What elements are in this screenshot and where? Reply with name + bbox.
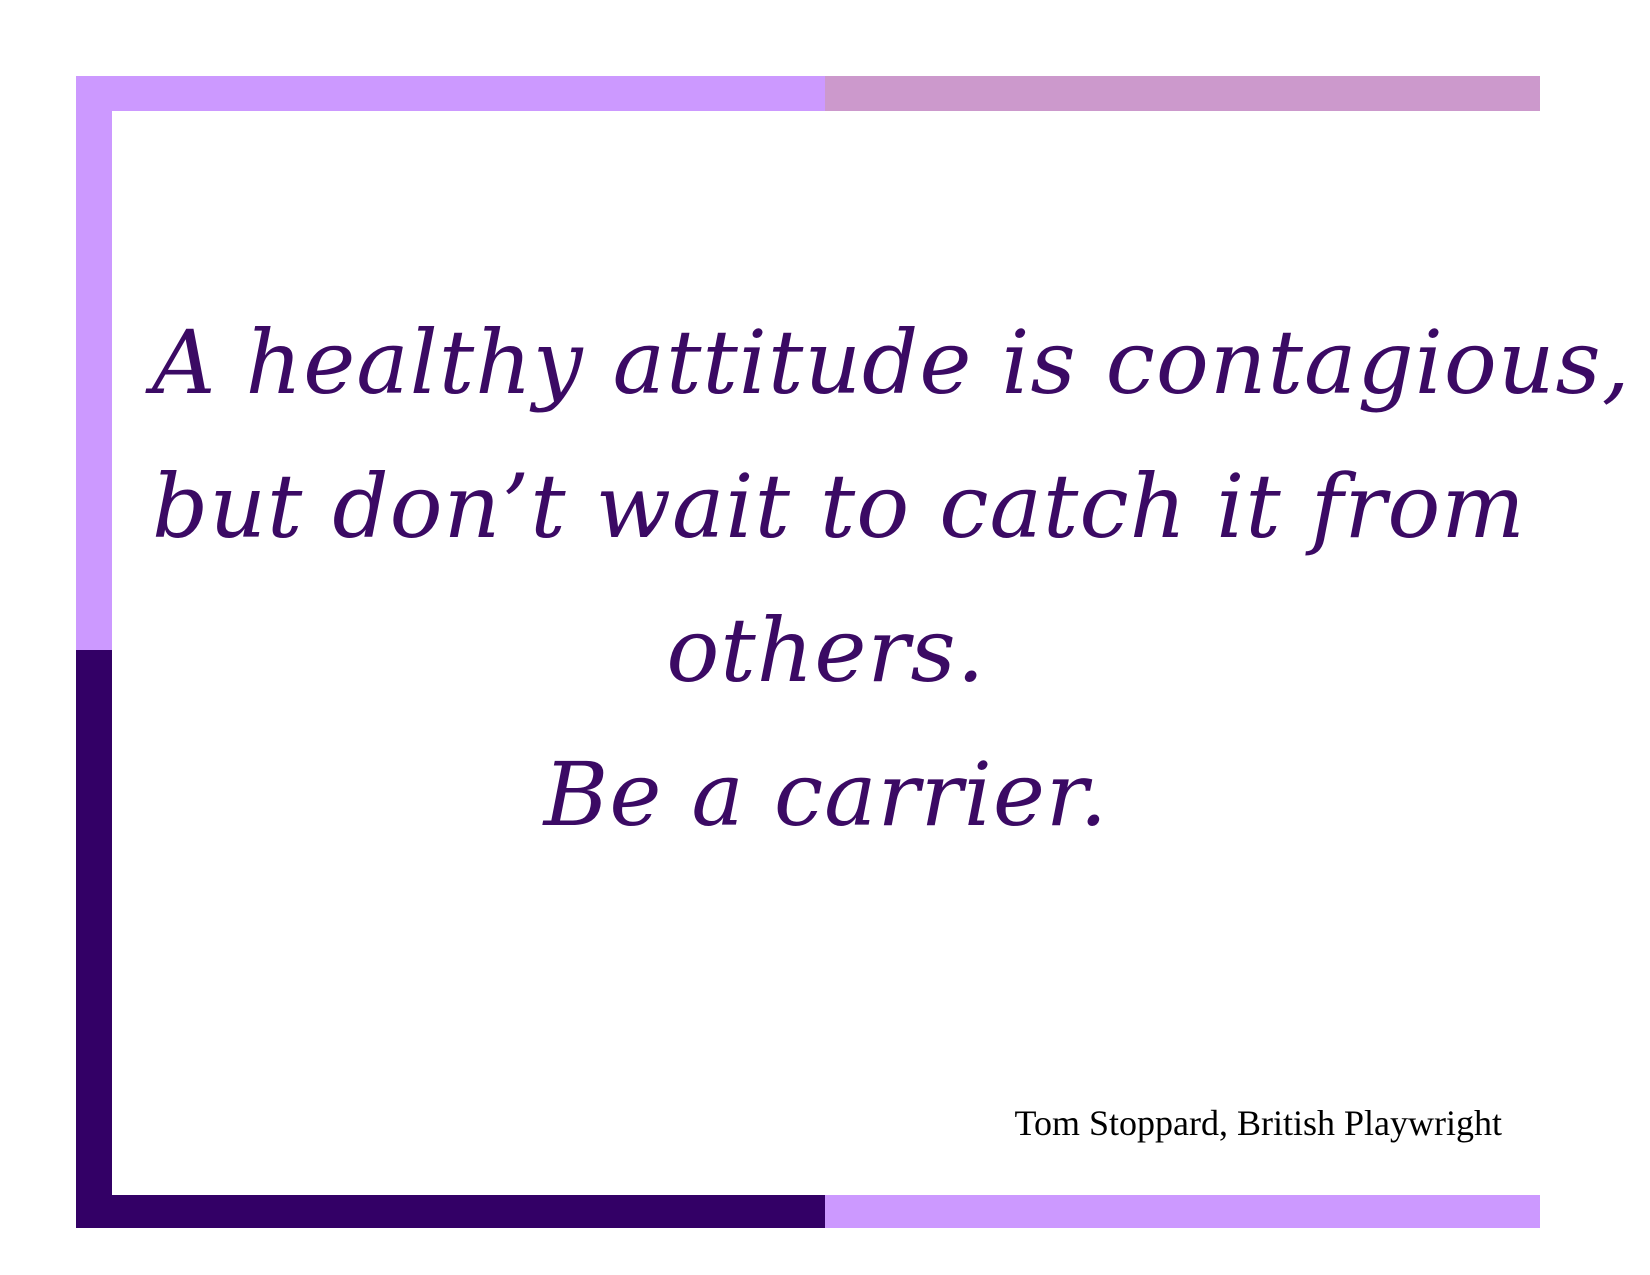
content-panel: A healthy attitude is contagious, but do… <box>112 111 1540 1195</box>
quote-block: A healthy attitude is contagious, but do… <box>152 291 1500 867</box>
quote-line-4: Be a carrier. <box>152 723 1500 867</box>
quote-attribution: Tom Stoppard, British Playwright <box>1015 1101 1502 1145</box>
quote-line-2: but don’t wait to catch it from <box>152 435 1500 579</box>
frame-band-top-right <box>825 76 1540 111</box>
frame-band-bottom-left <box>76 1195 825 1228</box>
quote-slide: A healthy attitude is contagious, but do… <box>0 0 1650 1275</box>
frame-band-left-upper <box>76 76 112 650</box>
quote-line-3: others. <box>152 579 1500 723</box>
frame-band-top-left <box>76 76 825 111</box>
frame-band-bottom-right <box>825 1195 1540 1228</box>
frame-band-left-lower <box>76 650 112 1228</box>
quote-line-1: A healthy attitude is contagious, <box>152 291 1500 435</box>
